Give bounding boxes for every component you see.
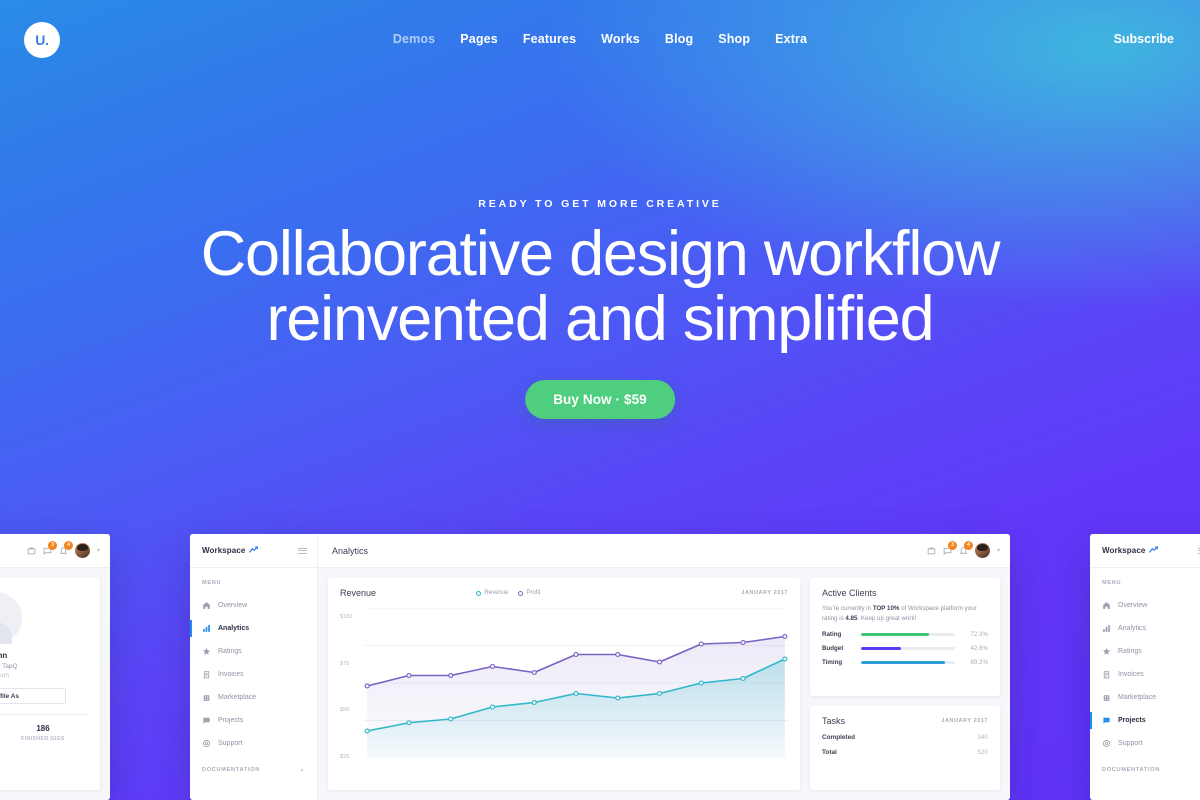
workspace-brand[interactable]: Workspace (190, 534, 318, 568)
user-avatar[interactable] (975, 543, 990, 558)
sidebar-item-invoices[interactable]: Invoices (1090, 663, 1200, 686)
tasks-row: Total 520 (822, 749, 988, 756)
profile-stat-number: 186 (0, 724, 90, 733)
profile-avatar (0, 592, 22, 644)
alerts-icon-wrapper[interactable]: 4 (959, 546, 968, 555)
progress-value: 89.2% (962, 659, 988, 666)
hero-headline: Collaborative design workflow reinvented… (0, 222, 1200, 352)
progress-row-timing: Timing 89.2% (822, 659, 988, 666)
tasks-card-title: Tasks (822, 716, 845, 726)
nav-item-shop[interactable]: Shop (718, 32, 750, 46)
sidebar-item-marketplace[interactable]: Marketplace (190, 686, 317, 709)
profile-stat: 186 FINISHED GIGS (0, 724, 90, 742)
view-profile-as-button[interactable]: View Profile As (0, 688, 66, 704)
chevron-down-icon[interactable]: ▾ (997, 547, 1000, 554)
nav-links: Demos Pages Features Works Blog Shop Ext… (0, 32, 1200, 46)
sidebar-item-projects[interactable]: Projects (190, 709, 317, 732)
headline-line-2: reinvented and simplified (267, 284, 934, 354)
sidebar-item-projects[interactable]: Projects (1090, 709, 1200, 732)
nav-item-demos[interactable]: Demos (393, 32, 435, 46)
active-clients-card: Active Clients You're currently in TOP 1… (810, 578, 1000, 696)
sidebar-item-label: Support (218, 740, 243, 747)
sidebar: MENU Overview Analytics Ratings (190, 568, 318, 800)
sidebar-item-label: Ratings (218, 648, 242, 655)
tasks-card-date: JANUARY 2017 (941, 718, 988, 724)
dashboard-mockup-center: Workspace Analytics 3 4 (190, 534, 1010, 800)
dashboard-body: MENU Overview Analytics Ratings (190, 568, 1010, 800)
profile-stats: 4 NTS 186 FINISHED GIGS (0, 714, 90, 742)
legend-item-revenue[interactable]: Revenue (476, 590, 508, 596)
y-tick-75: $75 (340, 661, 349, 667)
progress-track (861, 661, 955, 664)
sidebar-item-label: Invoices (1118, 671, 1144, 678)
profile-stat-label: FINISHED GIGS (0, 736, 90, 742)
home-icon (202, 601, 211, 610)
tasks-row: Completed 340 (822, 734, 988, 741)
sidebar-item-label: Overview (218, 602, 247, 609)
side-cards: Active Clients You're currently in TOP 1… (810, 578, 1000, 790)
sidebar-item-label: Invoices (218, 671, 244, 678)
progress-fill (861, 647, 901, 650)
sidebar-item-ratings[interactable]: Ratings (1090, 640, 1200, 663)
y-tick-50: $50 (340, 707, 349, 713)
subscribe-link[interactable]: Subscribe (1114, 32, 1174, 46)
sidebar-item-label: Analytics (1118, 625, 1146, 632)
nav-item-extra[interactable]: Extra (775, 32, 807, 46)
nav-item-pages[interactable]: Pages (460, 32, 498, 46)
home-icon (1102, 601, 1111, 610)
progress-label: Budget (822, 645, 854, 652)
sidebar-item-label: Analytics (218, 625, 249, 632)
tasks-card-header: Tasks JANUARY 2017 (822, 716, 988, 726)
profile-card-inner: …ghn …viously TapQ …ngdom View Profile A… (0, 578, 100, 790)
legend-label-profit: Profit (526, 590, 540, 596)
trend-icon (249, 546, 259, 555)
sidebar-section-menu: MENU (1090, 580, 1200, 594)
sidebar-section-menu: MENU (190, 580, 317, 594)
sidebar-section-documentation-label: DOCUMENTATION (1102, 767, 1160, 773)
progress-label: Rating (822, 631, 854, 638)
progress-value: 42.6% (962, 645, 988, 652)
buy-now-button[interactable]: Buy Now · $59 (525, 380, 675, 419)
top-navigation-bar: U. Demos Pages Features Works Blog Shop … (0, 0, 1200, 82)
dashboard-mockup-left: 3 4 ▾ …ghn …viously TapQ …ngdom View Pro… (0, 534, 110, 800)
alerts-icon-wrapper[interactable]: 4 (59, 546, 68, 555)
progress-value: 72.3% (962, 631, 988, 638)
sidebar-item-ratings[interactable]: Ratings (190, 640, 317, 663)
sidebar-item-support[interactable]: Support (190, 732, 317, 755)
headline-line-1: Collaborative design workflow (201, 219, 1000, 289)
store-icon (202, 693, 211, 702)
revenue-card-header: Revenue Revenue Profit JANUARY 2017 (340, 588, 788, 598)
workspace-brand-name: Workspace (1102, 546, 1145, 555)
desc-prefix: You're currently in (822, 605, 873, 612)
workspace-brand-name: Workspace (202, 546, 245, 555)
messages-badge: 3 (48, 541, 57, 550)
sidebar: MENU Overview Analytics Ratings (1090, 568, 1200, 800)
messages-badge: 3 (948, 541, 957, 550)
invoice-icon (202, 670, 211, 679)
tasks-card: Tasks JANUARY 2017 Completed 340 Total 5… (810, 706, 1000, 790)
progress-row-rating: Rating 72.3% (822, 631, 988, 638)
sidebar-item-support[interactable]: Support (1090, 732, 1200, 755)
sidebar-item-analytics[interactable]: Analytics (190, 617, 317, 640)
tasks-row-value: 520 (977, 749, 988, 756)
tasks-row-value: 340 (977, 734, 988, 741)
profile-name: …ghn (0, 651, 90, 660)
dashboard-topbar: Workspace Analytics 3 4 (190, 534, 1010, 568)
hero-eyebrow: READY TO GET MORE CREATIVE (0, 198, 1200, 210)
bar-chart-icon (1102, 624, 1111, 633)
messages-icon-wrapper[interactable]: 3 (943, 546, 952, 555)
sidebar-item-overview[interactable]: Overview (1090, 594, 1200, 617)
chat-icon (1102, 716, 1111, 725)
nav-item-features[interactable]: Features (523, 32, 576, 46)
nav-item-blog[interactable]: Blog (665, 32, 693, 46)
sidebar-section-documentation[interactable]: DOCUMENTATION ⌄ (190, 755, 317, 781)
sidebar-section-documentation[interactable]: DOCUMENTATION ⌄ (1090, 755, 1200, 781)
mock-left-topbar: 3 4 ▾ (0, 534, 110, 568)
progress-track (861, 647, 955, 650)
sidebar-toggle-icon[interactable] (298, 548, 307, 554)
briefcase-icon[interactable] (27, 546, 36, 555)
bar-chart-icon (202, 624, 211, 633)
invoice-icon (1102, 670, 1111, 679)
star-icon (1102, 647, 1111, 656)
desc-suffix: . Keep up great work! (857, 615, 916, 622)
y-tick-25: $25 (340, 754, 349, 760)
sidebar-item-label: Overview (1118, 602, 1147, 609)
profile-subtitle: …viously TapQ (0, 663, 90, 670)
chat-icon (202, 716, 211, 725)
chevron-down-icon: ⌄ (300, 767, 305, 773)
tasks-row-label: Total (822, 749, 837, 756)
chart-legend: Revenue Profit (476, 590, 540, 596)
chart-plot-area (364, 608, 788, 758)
mock-right-topbar: Workspace (1090, 534, 1200, 568)
workspace-brand[interactable]: Workspace (1090, 534, 1200, 568)
active-clients-description: You're currently in TOP 10% of Workspace… (822, 604, 988, 624)
topbar-actions: 3 4 ▾ (927, 543, 1010, 558)
desc-rating-value: 4.85 (845, 615, 857, 622)
tasks-row-label: Completed (822, 734, 855, 741)
legend-item-profit[interactable]: Profit (518, 590, 540, 596)
sidebar-item-analytics[interactable]: Analytics (1090, 617, 1200, 640)
page-title: Analytics (318, 546, 368, 556)
lifebuoy-icon (202, 739, 211, 748)
sidebar-section-documentation-label: DOCUMENTATION (202, 767, 260, 773)
trend-icon (1149, 546, 1159, 555)
legend-dot-revenue (476, 591, 481, 596)
progress-row-budget: Budget 42.6% (822, 645, 988, 652)
user-avatar[interactable] (75, 543, 90, 558)
store-icon (1102, 693, 1111, 702)
revenue-card-title: Revenue (340, 588, 376, 598)
revenue-card-date: JANUARY 2017 (741, 590, 788, 596)
revenue-chart-card: Revenue Revenue Profit JANUARY 2017 (328, 578, 800, 790)
mock-right-body: MENU Overview Analytics Ratings (1090, 568, 1200, 800)
revenue-line-chart: $100 $75 $50 $25 (340, 608, 788, 758)
briefcase-icon[interactable] (927, 546, 936, 555)
sidebar-item-label: Projects (218, 717, 243, 724)
sidebar-item-label: Projects (1118, 717, 1146, 724)
profile-location: …ngdom (0, 672, 90, 679)
progress-label: Timing (822, 659, 854, 666)
sidebar-item-label: Marketplace (218, 694, 256, 701)
dashboard-mockup-right: Workspace MENU Overview Analytics (1090, 534, 1200, 800)
messages-icon-wrapper[interactable]: 3 (43, 546, 52, 555)
alerts-badge: 4 (964, 541, 973, 550)
chevron-down-icon[interactable]: ▾ (97, 547, 100, 554)
star-icon (202, 647, 211, 656)
profile-card: …ghn …viously TapQ …ngdom View Profile A… (0, 568, 110, 800)
chart-svg (364, 608, 788, 758)
nav-item-works[interactable]: Works (601, 32, 640, 46)
sidebar-item-label: Ratings (1118, 648, 1142, 655)
legend-dot-profit (518, 591, 523, 596)
active-clients-title: Active Clients (822, 588, 988, 598)
lifebuoy-icon (1102, 739, 1111, 748)
progress-fill (861, 661, 945, 664)
mock-left-topbar-actions: 3 4 ▾ (27, 543, 110, 558)
dashboard-content: Revenue Revenue Profit JANUARY 2017 (318, 568, 1010, 800)
sidebar-item-label: Support (1118, 740, 1143, 747)
alerts-badge: 4 (64, 541, 73, 550)
sidebar-item-overview[interactable]: Overview (190, 594, 317, 617)
y-tick-100: $100 (340, 614, 352, 620)
progress-fill (861, 633, 929, 636)
sidebar-item-invoices[interactable]: Invoices (190, 663, 317, 686)
sidebar-item-marketplace[interactable]: Marketplace (1090, 686, 1200, 709)
desc-top-percent: TOP 10% (873, 605, 900, 612)
sidebar-item-label: Marketplace (1118, 694, 1156, 701)
legend-label-revenue: Revenue (484, 590, 508, 596)
progress-track (861, 633, 955, 636)
